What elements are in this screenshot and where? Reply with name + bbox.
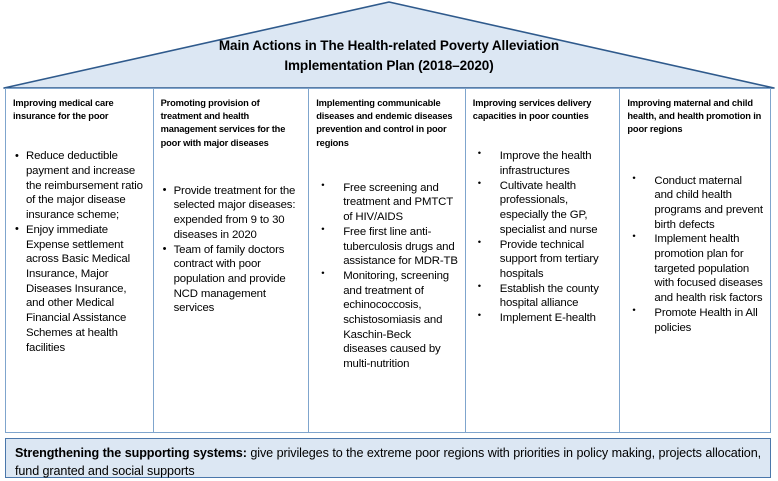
roof-header: Main Actions in The Health-related Pover… (0, 0, 778, 92)
list-item: Provide technical support from tertiary … (473, 238, 613, 282)
list-item: Free screening and treatment and PMTCT o… (316, 181, 458, 225)
pillar-heading-4: Improving services delivery capacities i… (473, 97, 613, 123)
pillar-columns: Improving medical care insurance for the… (5, 88, 771, 433)
list-item: Promote Health in All policies (627, 306, 763, 335)
pillar-heading-1: Improving medical care insurance for the… (13, 97, 146, 123)
list-item: Enjoy immediate Expense settlement acros… (13, 223, 146, 355)
spacer (473, 127, 613, 149)
pillar-bullets-4: Improve the health infrastructures Culti… (473, 149, 613, 325)
pillar-bullets-5: Conduct maternal and child health progra… (627, 174, 763, 336)
list-item: Cultivate health professionals, especial… (473, 179, 613, 238)
spacer (13, 127, 146, 149)
spacer (161, 154, 302, 184)
page-title-line-1: Main Actions in The Health-related Pover… (219, 38, 559, 53)
pillar-bullets-2: Provide treatment for the selected major… (161, 184, 302, 316)
pillar-column-2: Promoting provision of treatment and hea… (154, 89, 310, 432)
list-item: Conduct maternal and child health progra… (627, 174, 763, 233)
pillar-heading-3: Implementing communicable diseases and e… (316, 97, 458, 150)
page-title-line-2: Implementation Plan (2018–2020) (120, 56, 658, 76)
pillar-heading-2: Promoting provision of treatment and hea… (161, 97, 302, 150)
pillar-column-4: Improving services delivery capacities i… (466, 89, 621, 432)
list-item: Establish the county hospital alliance (473, 282, 613, 311)
list-item: Provide treatment for the selected major… (161, 184, 302, 243)
list-item: Implement health promotion plan for targ… (627, 232, 763, 306)
list-item: Team of family doctors contract with poo… (161, 243, 302, 317)
pillar-column-3: Implementing communicable diseases and e… (309, 89, 466, 432)
list-item: Improve the health infrastructures (473, 149, 613, 178)
list-item: Free first line anti-tuberculosis drugs … (316, 225, 458, 269)
foundation-label: Strengthening the supporting systems: (15, 446, 247, 460)
pillar-column-5: Improving maternal and child health, and… (620, 89, 770, 432)
list-item: Implement E-health (473, 311, 613, 326)
pillar-heading-5: Improving maternal and child health, and… (627, 97, 763, 137)
list-item: Reduce deductible payment and increase t… (13, 149, 146, 223)
list-item: Monitoring, screening and treatment of e… (316, 269, 458, 372)
spacer (316, 154, 458, 181)
poverty-alleviation-diagram: Main Actions in The Health-related Pover… (0, 0, 778, 481)
foundation-banner: Strengthening the supporting systems: gi… (5, 438, 771, 478)
spacer (627, 141, 763, 174)
pillar-column-1: Improving medical care insurance for the… (6, 89, 154, 432)
pillar-bullets-1: Reduce deductible payment and increase t… (13, 149, 146, 355)
page-title: Main Actions in The Health-related Pover… (120, 36, 658, 75)
pillar-bullets-3: Free screening and treatment and PMTCT o… (316, 181, 458, 372)
